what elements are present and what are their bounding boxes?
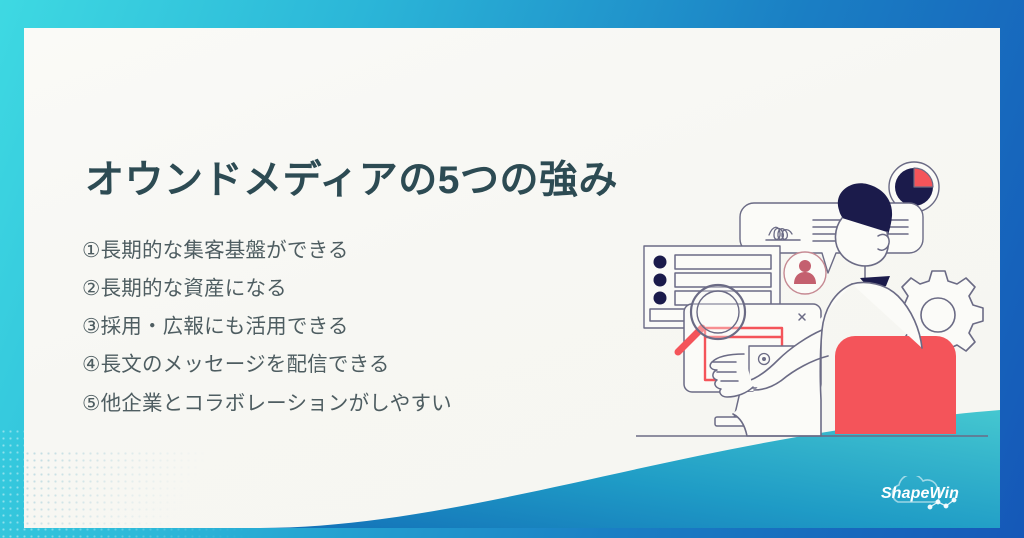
logo-text: ShapeWin (872, 485, 968, 503)
slide-canvas: オウンドメディアの5つの強み ①長期的な集客基盤ができる ②長期的な資産になる … (24, 28, 1000, 528)
benefits-list: ①長期的な集客基盤ができる ②長期的な資産になる ③採用・広報にも活用できる ④… (82, 238, 452, 416)
illustration-person-at-computer (636, 156, 988, 446)
shapewin-logo[interactable]: ShapeWin (872, 476, 968, 516)
chair (835, 336, 956, 434)
page-title: オウンドメディアの5つの強み (85, 149, 618, 205)
slide-root: オウンドメディアの5つの強み ①長期的な集客基盤ができる ②長期的な資産になる … (0, 0, 1024, 538)
list-item: ②長期的な資産になる (82, 276, 452, 302)
list-item: ③採用・広報にも活用できる (82, 314, 452, 340)
list-item: ①長期的な集客基盤ができる (82, 238, 452, 264)
avatar-badge-icon (784, 252, 826, 294)
list-item: ⑤他企業とコラボレーションがしやすい (82, 391, 452, 417)
dot-pattern-inner (24, 450, 254, 528)
list-item: ④長文のメッセージを配信できる (82, 352, 452, 378)
